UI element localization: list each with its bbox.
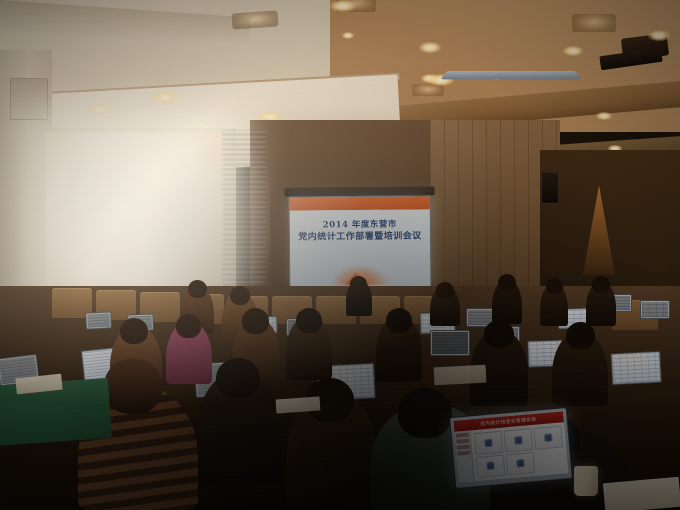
paper-sheet <box>434 365 487 386</box>
sidebar-item-entry[interactable] <box>457 445 470 450</box>
screen-surface: 2014 年度东营市 党内统计工作部署暨培训会议 <box>289 195 432 288</box>
downlight-icon <box>596 112 612 120</box>
downlight-icon <box>419 42 441 53</box>
attendee-head <box>120 318 148 344</box>
laptop <box>430 330 470 356</box>
downlight-icon <box>342 32 354 39</box>
attendee-head <box>592 276 610 293</box>
downlight-icon <box>648 30 670 41</box>
laptop-lid: 党内统计信息化管理系统 <box>449 407 573 489</box>
attendee-head <box>188 280 207 298</box>
attendee-head <box>398 388 452 438</box>
attendee-head <box>386 308 412 333</box>
projection-screen: 2014 年度东营市 党内统计工作部署暨培训会议 <box>289 195 432 288</box>
laptop <box>85 311 112 329</box>
attendee-head <box>104 358 162 414</box>
attendee-head <box>216 358 260 398</box>
downlight-icon <box>563 46 583 56</box>
wall-speaker <box>541 172 559 204</box>
laptop-screen <box>612 353 659 383</box>
paper-cup <box>574 466 598 496</box>
attendee-head <box>546 278 563 294</box>
sum-icon <box>486 462 495 471</box>
paper-sheet <box>603 477 680 510</box>
downlight-icon <box>88 104 110 114</box>
tile-person[interactable] <box>474 431 504 455</box>
slide-title: 2014 年度东营市 党内统计工作部署暨培训会议 <box>290 218 430 244</box>
conference-room-photo: 2014 年度东营市 党内统计工作部署暨培训会议 <box>0 0 680 510</box>
downlight-plate <box>231 10 278 29</box>
org-icon <box>514 436 523 445</box>
foreground-laptop: 党内统计信息化管理系统 <box>449 407 573 489</box>
window-blinds <box>222 130 266 308</box>
laptop-keyboard-base <box>441 71 582 79</box>
gear-icon <box>516 459 525 468</box>
sidebar-item-menu[interactable] <box>456 433 469 438</box>
laptop <box>610 351 662 386</box>
attendee-head <box>176 314 201 338</box>
slide-top-band <box>290 196 430 210</box>
laptop-lid <box>610 351 662 386</box>
tile-sum[interactable] <box>476 454 506 478</box>
wall-mounted-device <box>10 78 48 120</box>
slide-title-line2: 党内统计工作部署暨培训会议 <box>290 230 430 244</box>
bright-window <box>46 132 224 304</box>
sidebar-item-stats[interactable] <box>457 451 470 456</box>
downlight-icon <box>330 0 356 12</box>
attendee-head <box>436 282 454 299</box>
sidebar-item-query[interactable] <box>456 439 469 444</box>
tile-empty <box>535 449 565 473</box>
attendee-head <box>498 274 516 291</box>
downlight-icon <box>152 92 178 103</box>
tile-report[interactable] <box>533 426 563 450</box>
tile-org[interactable] <box>503 428 533 452</box>
person-icon <box>484 438 493 447</box>
laptop-lid <box>430 330 470 356</box>
attendee-head <box>566 322 595 349</box>
laptop <box>640 300 670 319</box>
downlight-plate <box>572 14 616 32</box>
attendee-head <box>296 308 322 333</box>
app-body <box>454 422 568 482</box>
laptop-lid <box>640 300 670 319</box>
attendee-head <box>350 276 367 292</box>
laptop-screen <box>642 302 668 317</box>
report-icon <box>544 433 553 442</box>
laptop-screen <box>87 313 110 327</box>
attendee-head <box>242 308 269 334</box>
laptop-screen <box>432 332 468 354</box>
attendee-head <box>484 320 514 348</box>
laptop-screen: 党内统计信息化管理系统 <box>453 411 568 482</box>
attendee-head <box>230 286 250 305</box>
laptop-lid <box>85 311 112 329</box>
tile-settings[interactable] <box>506 452 536 476</box>
app-tile-grid <box>470 422 568 481</box>
